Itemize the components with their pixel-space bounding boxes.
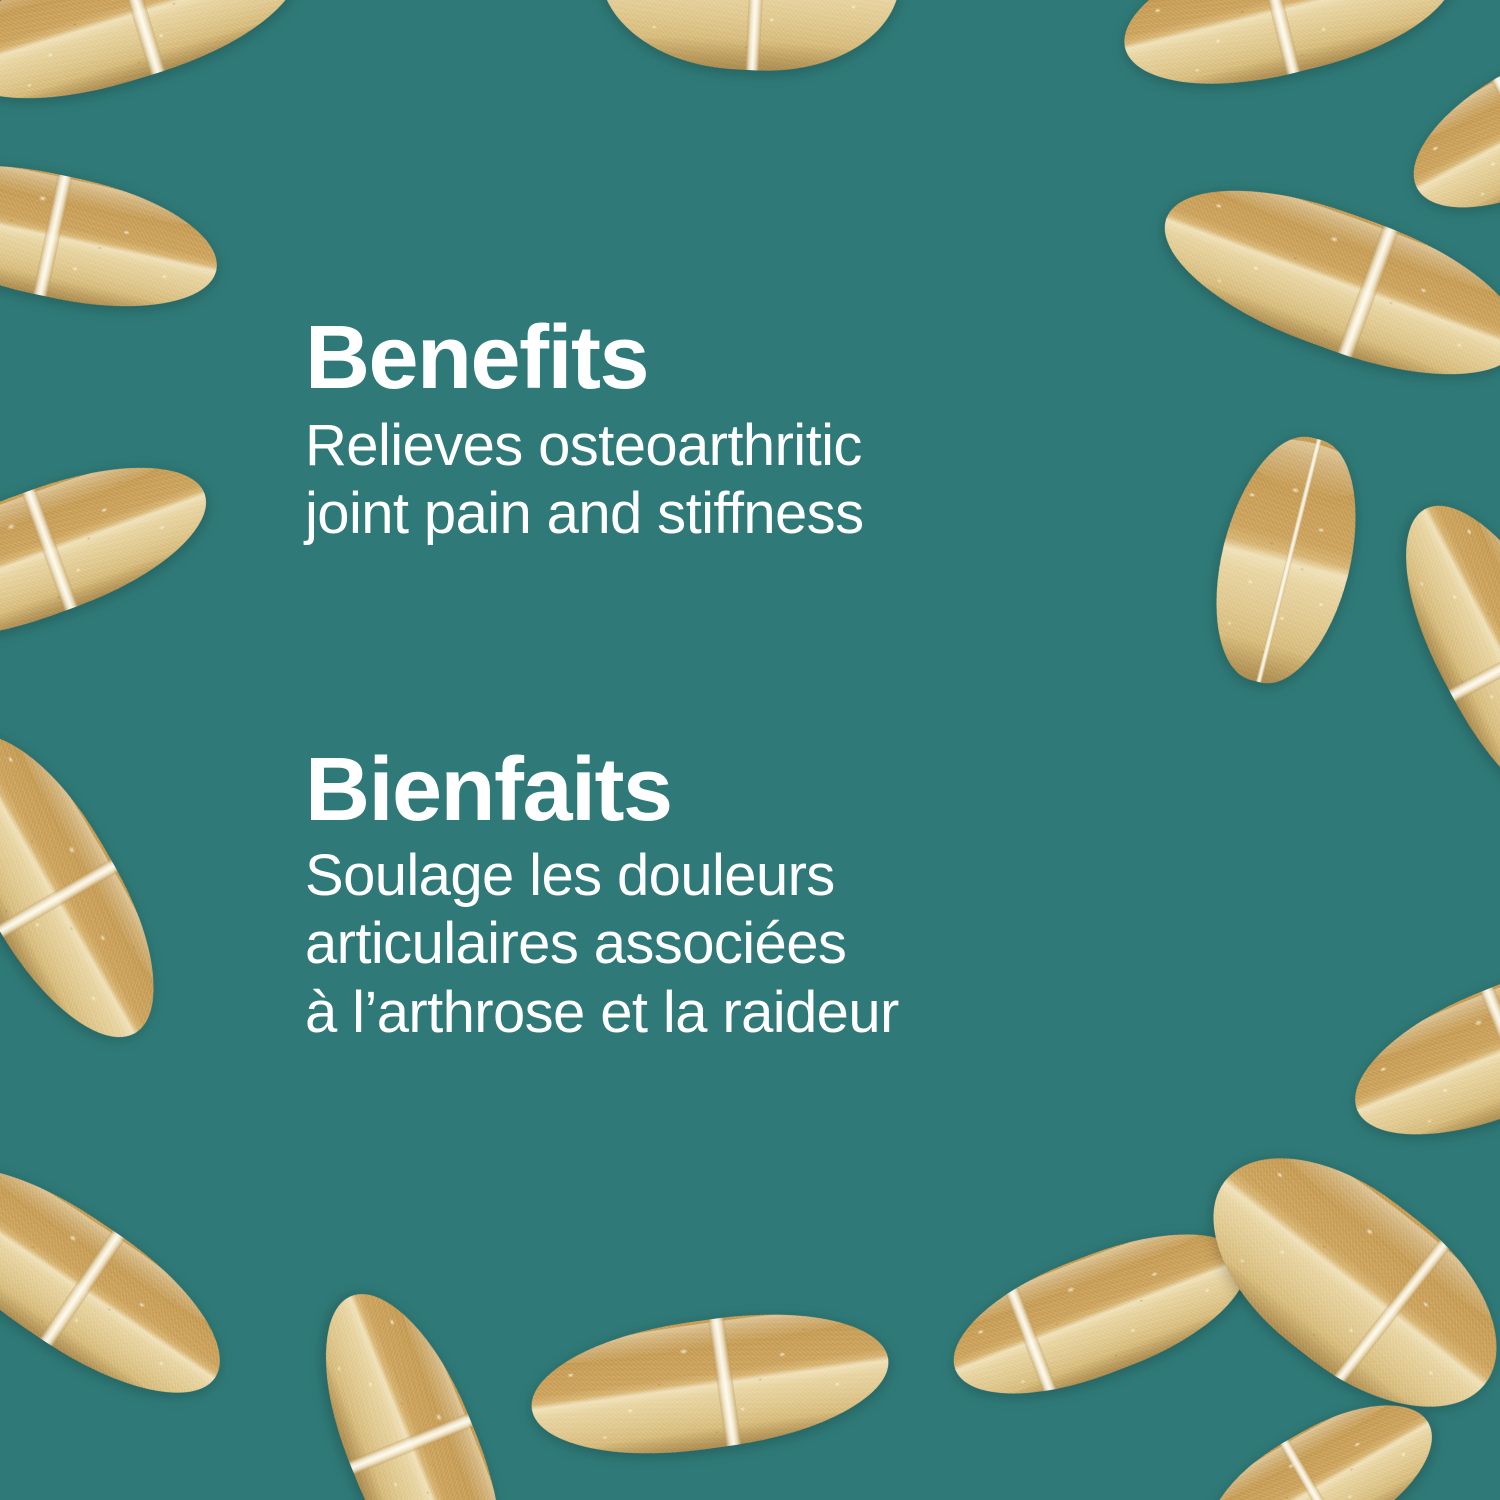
benefits-body-en: Relieves osteoarthritic joint pain and s… (305, 412, 863, 549)
tablet-highlight-rim (0, 713, 186, 1009)
tablet-highlight-rim (0, 1134, 244, 1343)
tablet-highlight-rim (1186, 160, 1500, 308)
tablet-score-line (112, 0, 168, 80)
tablet-underside-shadow (1147, 263, 1500, 409)
benefits-body-fr-line-2: articulaires associées (305, 910, 899, 978)
tablet-surface (1184, 1375, 1456, 1500)
tablet-underside-shadow (0, 535, 223, 669)
supplement-tablet (1389, 0, 1500, 241)
tablet-score-line (1444, 627, 1500, 705)
tablet-highlight-rim (1460, 486, 1500, 786)
tablet-grain-texture (0, 706, 192, 1066)
tablet-surface (0, 142, 229, 330)
tablet-underside-shadow (1195, 627, 1326, 696)
tablet-grain-texture (1171, 1112, 1500, 1453)
tablet-surface (0, 0, 316, 130)
tablet-surface (1109, 0, 1470, 111)
supplement-tablet (0, 142, 229, 330)
tablet-underside-shadow (0, 243, 205, 329)
tablet-grain-texture (1333, 928, 1500, 1168)
tablet-underside-shadow (1139, 10, 1467, 111)
benefits-text-block: Benefits Relieves osteoarthritic joint p… (305, 0, 1105, 1500)
tablet-highlight-rim (1190, 1379, 1409, 1500)
supplement-tablet (1171, 1112, 1500, 1453)
supplement-tablet (1109, 0, 1470, 111)
tablet-highlight-rim (0, 146, 222, 236)
benefits-heading-fr: Bienfaits (305, 745, 672, 835)
supplement-tablet (0, 435, 226, 670)
tablet-grain-texture (0, 1128, 251, 1431)
supplement-tablet (0, 0, 316, 130)
tablet-grain-texture (1143, 155, 1500, 410)
supplement-tablet (1369, 479, 1500, 839)
tablet-underside-shadow (1370, 532, 1500, 836)
tablet-grain-texture (1389, 0, 1500, 241)
supplement-tablet (0, 706, 192, 1066)
tablet-surface (1194, 423, 1379, 697)
tablet-surface (1171, 1112, 1500, 1453)
tablet-score-line (1478, 982, 1500, 1114)
tablet-highlight-rim (0, 439, 186, 576)
tablet-surface (0, 706, 192, 1066)
tablet-surface (0, 1128, 251, 1431)
benefits-body-fr: Soulage les douleurs articulaires associ… (305, 842, 899, 1047)
tablet-score-line (1489, 70, 1500, 191)
supplement-tablet (1194, 423, 1379, 697)
tablet-underside-shadow (0, 1221, 187, 1430)
tablet-grain-texture (1369, 479, 1500, 839)
tablet-surface (1389, 0, 1500, 241)
tablet-underside-shadow (1376, 1027, 1500, 1167)
tablet-grain-texture (0, 435, 226, 670)
supplement-tablet (1143, 155, 1500, 410)
tablet-highlight-rim (1395, 4, 1500, 156)
supplement-tablet (1184, 1375, 1456, 1500)
tablet-surface (1369, 479, 1500, 839)
tablet-grain-texture (0, 0, 316, 130)
benefits-body-en-line-1: Relieves osteoarthritic (305, 412, 863, 480)
tablet-highlight-rim (1260, 1119, 1500, 1342)
tablet-score-line (0, 856, 123, 941)
tablet-surface (1143, 155, 1500, 410)
tablet-underside-shadow (0, 764, 94, 1063)
tablet-highlight-rim (1117, 0, 1440, 11)
tablet-score-line (1253, 0, 1302, 80)
tablet-score-line (1277, 1435, 1346, 1500)
benefits-body-en-line-2: joint pain and stiffness (305, 480, 863, 548)
tablet-score-line (1335, 220, 1401, 363)
tablet-underside-shadow (1174, 1230, 1446, 1451)
tablet-score-line (32, 170, 74, 302)
benefits-body-fr-line-3: à l’arthrose et la raideur (305, 979, 899, 1047)
tablet-score-line (19, 484, 80, 616)
tablet-highlight-rim (0, 0, 280, 32)
tablet-score-line (1253, 429, 1324, 692)
tablet-grain-texture (1194, 423, 1379, 697)
supplement-tablet (0, 1128, 251, 1431)
tablet-underside-shadow (1233, 1456, 1454, 1500)
product-benefits-card: Benefits Relieves osteoarthritic joint p… (0, 0, 1500, 1500)
tablet-underside-shadow (1439, 89, 1500, 239)
tablet-grain-texture (1184, 1375, 1456, 1500)
tablet-surface (1333, 928, 1500, 1168)
tablet-underside-shadow (0, 6, 312, 129)
tablet-highlight-rim (1340, 933, 1500, 1075)
tablet-grain-texture (0, 142, 229, 330)
tablet-grain-texture (1109, 0, 1470, 111)
tablet-highlight-rim (1243, 429, 1374, 507)
tablet-surface (0, 435, 226, 670)
tablet-score-line (37, 1226, 129, 1351)
benefits-body-fr-line-1: Soulage les douleurs (305, 842, 899, 910)
tablet-score-line (1328, 1232, 1456, 1390)
supplement-tablet (1333, 928, 1500, 1168)
benefits-heading-en: Benefits (305, 313, 648, 403)
